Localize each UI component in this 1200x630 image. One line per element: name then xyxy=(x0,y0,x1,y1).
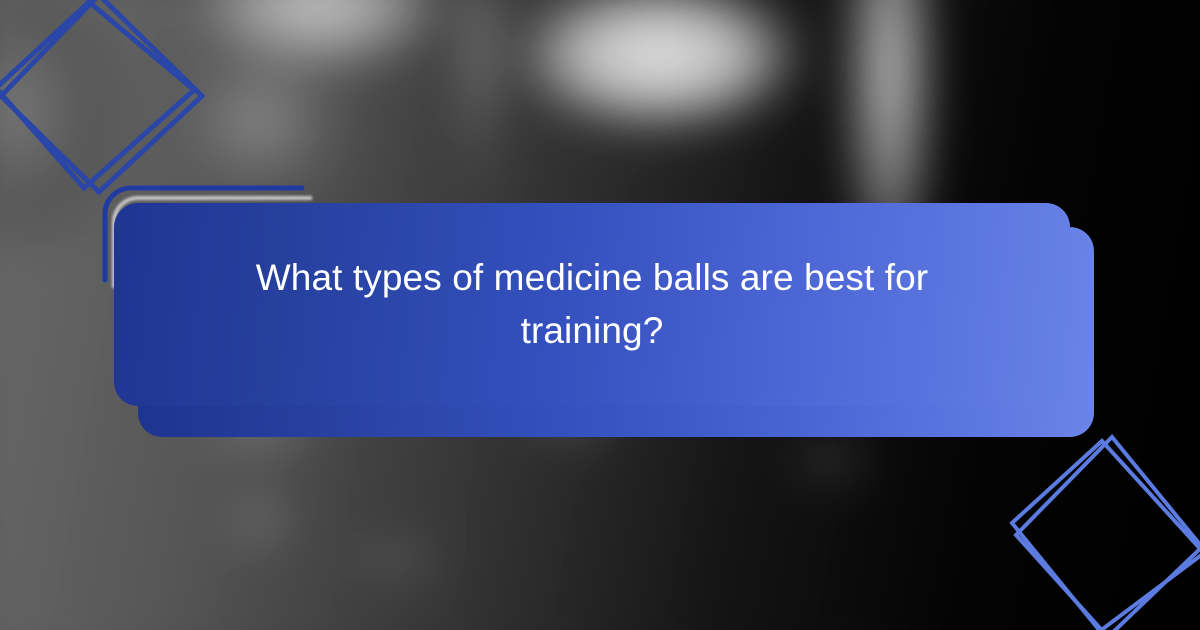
promo-banner: What types of medicine balls are best fo… xyxy=(0,0,1200,630)
question-headline: What types of medicine balls are best fo… xyxy=(212,252,972,357)
question-card: What types of medicine balls are best fo… xyxy=(114,203,1070,406)
decorative-squares-bottom-right xyxy=(990,425,1200,630)
decorative-squares-top-left xyxy=(0,0,224,202)
